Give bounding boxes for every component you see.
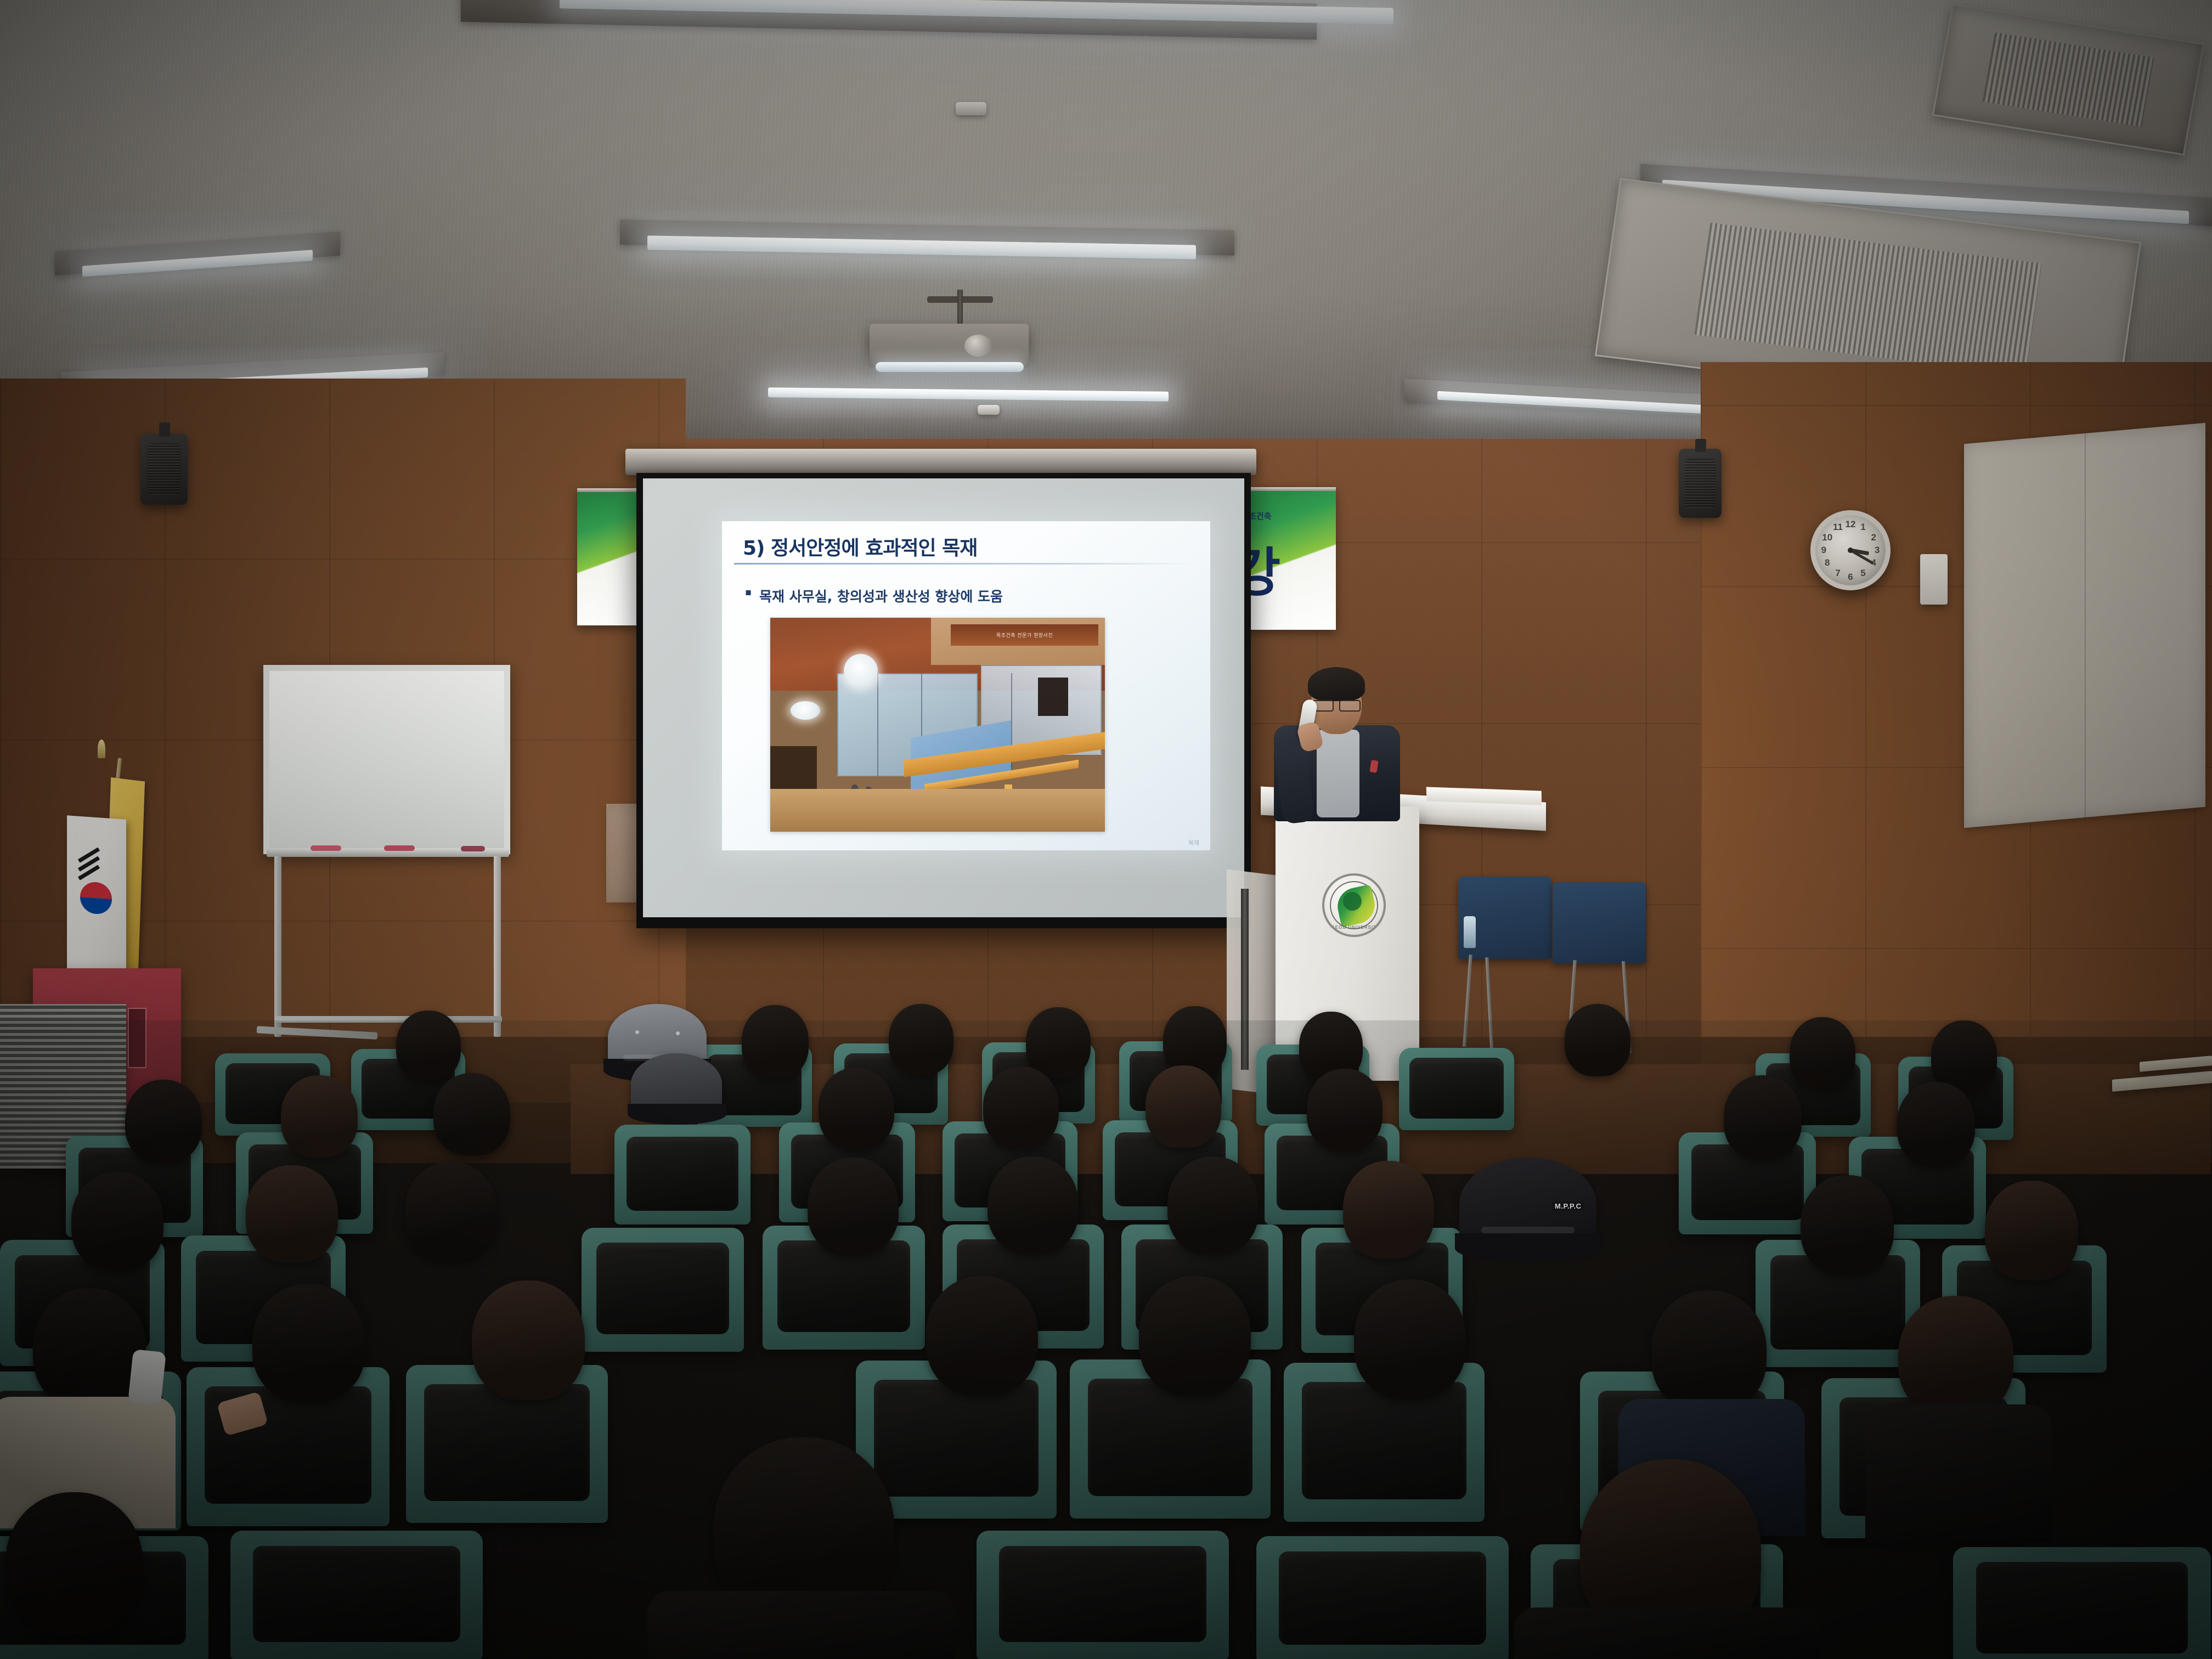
audience-head <box>1343 1161 1434 1259</box>
audience-head <box>1167 1156 1259 1254</box>
clock-numeral: 1 <box>1860 522 1865 533</box>
slide-photo: 목조건축 전문가 현장사진 <box>770 618 1105 832</box>
audience-shoulders <box>647 1591 955 1659</box>
stacking-chair[interactable] <box>1553 882 1646 963</box>
clock-face: 12 1 2 3 4 5 6 7 8 9 10 11 <box>1815 515 1886 585</box>
face-mask <box>128 1349 166 1405</box>
slide-title-underline <box>734 563 1196 565</box>
audience-seating-area: M.P.P.C <box>0 1020 2212 1659</box>
presenter-hair <box>1308 667 1365 701</box>
cap-brim <box>628 1104 726 1125</box>
audience-head <box>926 1276 1038 1396</box>
audience-head <box>1139 1276 1251 1396</box>
photo-caption-text: 목조건축 전문가 현장사진 <box>951 624 1098 646</box>
projection-screen-case <box>625 449 1256 475</box>
audience-head <box>1801 1175 1894 1275</box>
projector-light-output <box>876 362 1024 372</box>
audience-head <box>1145 1065 1221 1148</box>
slide-bullet-text: 목재 사무실, 창의성과 생산성 향상에 도움 <box>759 586 1003 606</box>
whiteboard-marker <box>461 846 485 851</box>
seat[interactable] <box>1953 1547 2211 1659</box>
audience-head <box>1163 1006 1227 1076</box>
audience-head <box>983 1066 1059 1149</box>
banner-rod <box>577 488 644 492</box>
audience-shoulders <box>1865 1404 2052 1542</box>
photo-mullion <box>877 673 878 776</box>
photo-pendant-lamp <box>791 701 820 720</box>
speaker-left <box>140 433 188 505</box>
audience-head <box>396 1011 461 1081</box>
emblem-inner-circle <box>1343 892 1362 911</box>
speaker-right <box>1679 449 1722 518</box>
audience-head <box>889 1004 953 1075</box>
cap-strap <box>1481 1227 1575 1233</box>
audience-head <box>1898 1296 2013 1418</box>
audience-head <box>472 1280 585 1400</box>
audience-head <box>1724 1075 1802 1160</box>
audience-head <box>988 1156 1079 1254</box>
photo-wood-floor <box>770 789 1105 832</box>
clock-numeral: 8 <box>1825 557 1830 568</box>
whiteboard-marker <box>311 845 341 851</box>
audience-head <box>1026 1007 1091 1079</box>
audience-head <box>819 1068 894 1150</box>
clock-numeral: 12 <box>1846 519 1856 530</box>
slide-title: 5) 정서안정에 효과적인 목재 <box>743 532 977 561</box>
photo-dark-door <box>1038 678 1068 716</box>
cap-eyelet <box>635 1030 639 1034</box>
lecture-hall-scene: 12 1 2 3 4 5 6 7 8 9 10 11 목조건축 강 5) 정서안… <box>0 0 2212 1659</box>
projector-lens <box>964 335 992 357</box>
audience-head <box>1985 1181 2078 1280</box>
speaker-bracket <box>159 422 170 437</box>
flag-korea <box>67 815 126 990</box>
audience-head <box>71 1172 163 1271</box>
taegeuk-circle <box>80 881 112 915</box>
smoke-detector <box>978 405 1000 415</box>
seat[interactable] <box>1256 1536 1509 1659</box>
whiteboard-marker <box>384 845 415 851</box>
banner-left <box>577 488 644 625</box>
whiteboard-leg <box>494 856 501 1037</box>
water-bottle[interactable] <box>1464 916 1476 948</box>
clock-numeral: 3 <box>1875 545 1880 556</box>
audience-head <box>808 1158 899 1255</box>
clock-center-pin <box>1848 548 1853 553</box>
acoustic-panel <box>1964 423 2205 828</box>
seat[interactable] <box>1399 1048 1514 1130</box>
emblem-label: DAEGU UNIVERSITY <box>1324 925 1384 930</box>
flag-finial <box>98 740 105 758</box>
speaker-bracket <box>1695 439 1706 452</box>
audience-head <box>1897 1082 1975 1166</box>
presentation-slide: 5) 정서안정에 효과적인 목재 목재 사무실, 창의성과 생산성 향상에 도움… <box>722 521 1210 850</box>
audience-head <box>281 1075 358 1158</box>
whiteboard-leg <box>274 856 281 1037</box>
audience-head-foreground <box>5 1492 143 1635</box>
audience-head <box>1354 1279 1466 1399</box>
presenter-glasses <box>1312 700 1361 709</box>
seat[interactable] <box>614 1125 751 1224</box>
audience-head <box>742 1005 809 1079</box>
projector-mount-pole <box>957 290 963 326</box>
cap-mppc-label: M.P.P.C <box>1553 1201 1584 1211</box>
audience-head <box>1790 1017 1855 1090</box>
presenter-shirt <box>1317 730 1359 817</box>
audience-head <box>252 1284 365 1402</box>
whiteboard <box>263 665 510 854</box>
taegeuk-red <box>80 881 112 899</box>
cap-eyelet <box>676 1031 680 1035</box>
audience-head <box>405 1162 497 1261</box>
slide-footer: 목재 <box>1188 838 1199 847</box>
clock-numeral: 11 <box>1833 522 1843 533</box>
audience-head <box>125 1080 202 1163</box>
wall-clock: 12 1 2 3 4 5 6 7 8 9 10 11 <box>1810 510 1891 590</box>
audience-head <box>1565 1004 1630 1076</box>
university-emblem: DAEGU UNIVERSITY <box>1322 873 1386 937</box>
audience-head <box>246 1165 338 1263</box>
seat[interactable] <box>977 1531 1229 1659</box>
wall-mounted-box <box>1920 554 1948 605</box>
clock-numeral: 7 <box>1835 568 1840 579</box>
audience-head <box>433 1073 510 1155</box>
clock-numeral: 5 <box>1860 568 1865 579</box>
seat[interactable] <box>230 1531 483 1659</box>
cap-brim <box>1455 1233 1602 1263</box>
audience-shoulders <box>1514 1607 1821 1659</box>
audience-head <box>1307 1069 1383 1151</box>
clock-numeral: 10 <box>1822 532 1832 543</box>
taegeuk-blue <box>80 897 112 915</box>
projector <box>870 324 1029 368</box>
clock-numeral: 9 <box>1821 545 1826 556</box>
smoke-detector <box>956 102 986 115</box>
clock-numeral: 6 <box>1848 572 1853 583</box>
seat[interactable] <box>582 1228 744 1352</box>
clock-numeral: 2 <box>1871 532 1876 543</box>
photo-caption-band: 목조건축 전문가 현장사진 <box>951 624 1098 646</box>
audience-head <box>1651 1290 1767 1412</box>
